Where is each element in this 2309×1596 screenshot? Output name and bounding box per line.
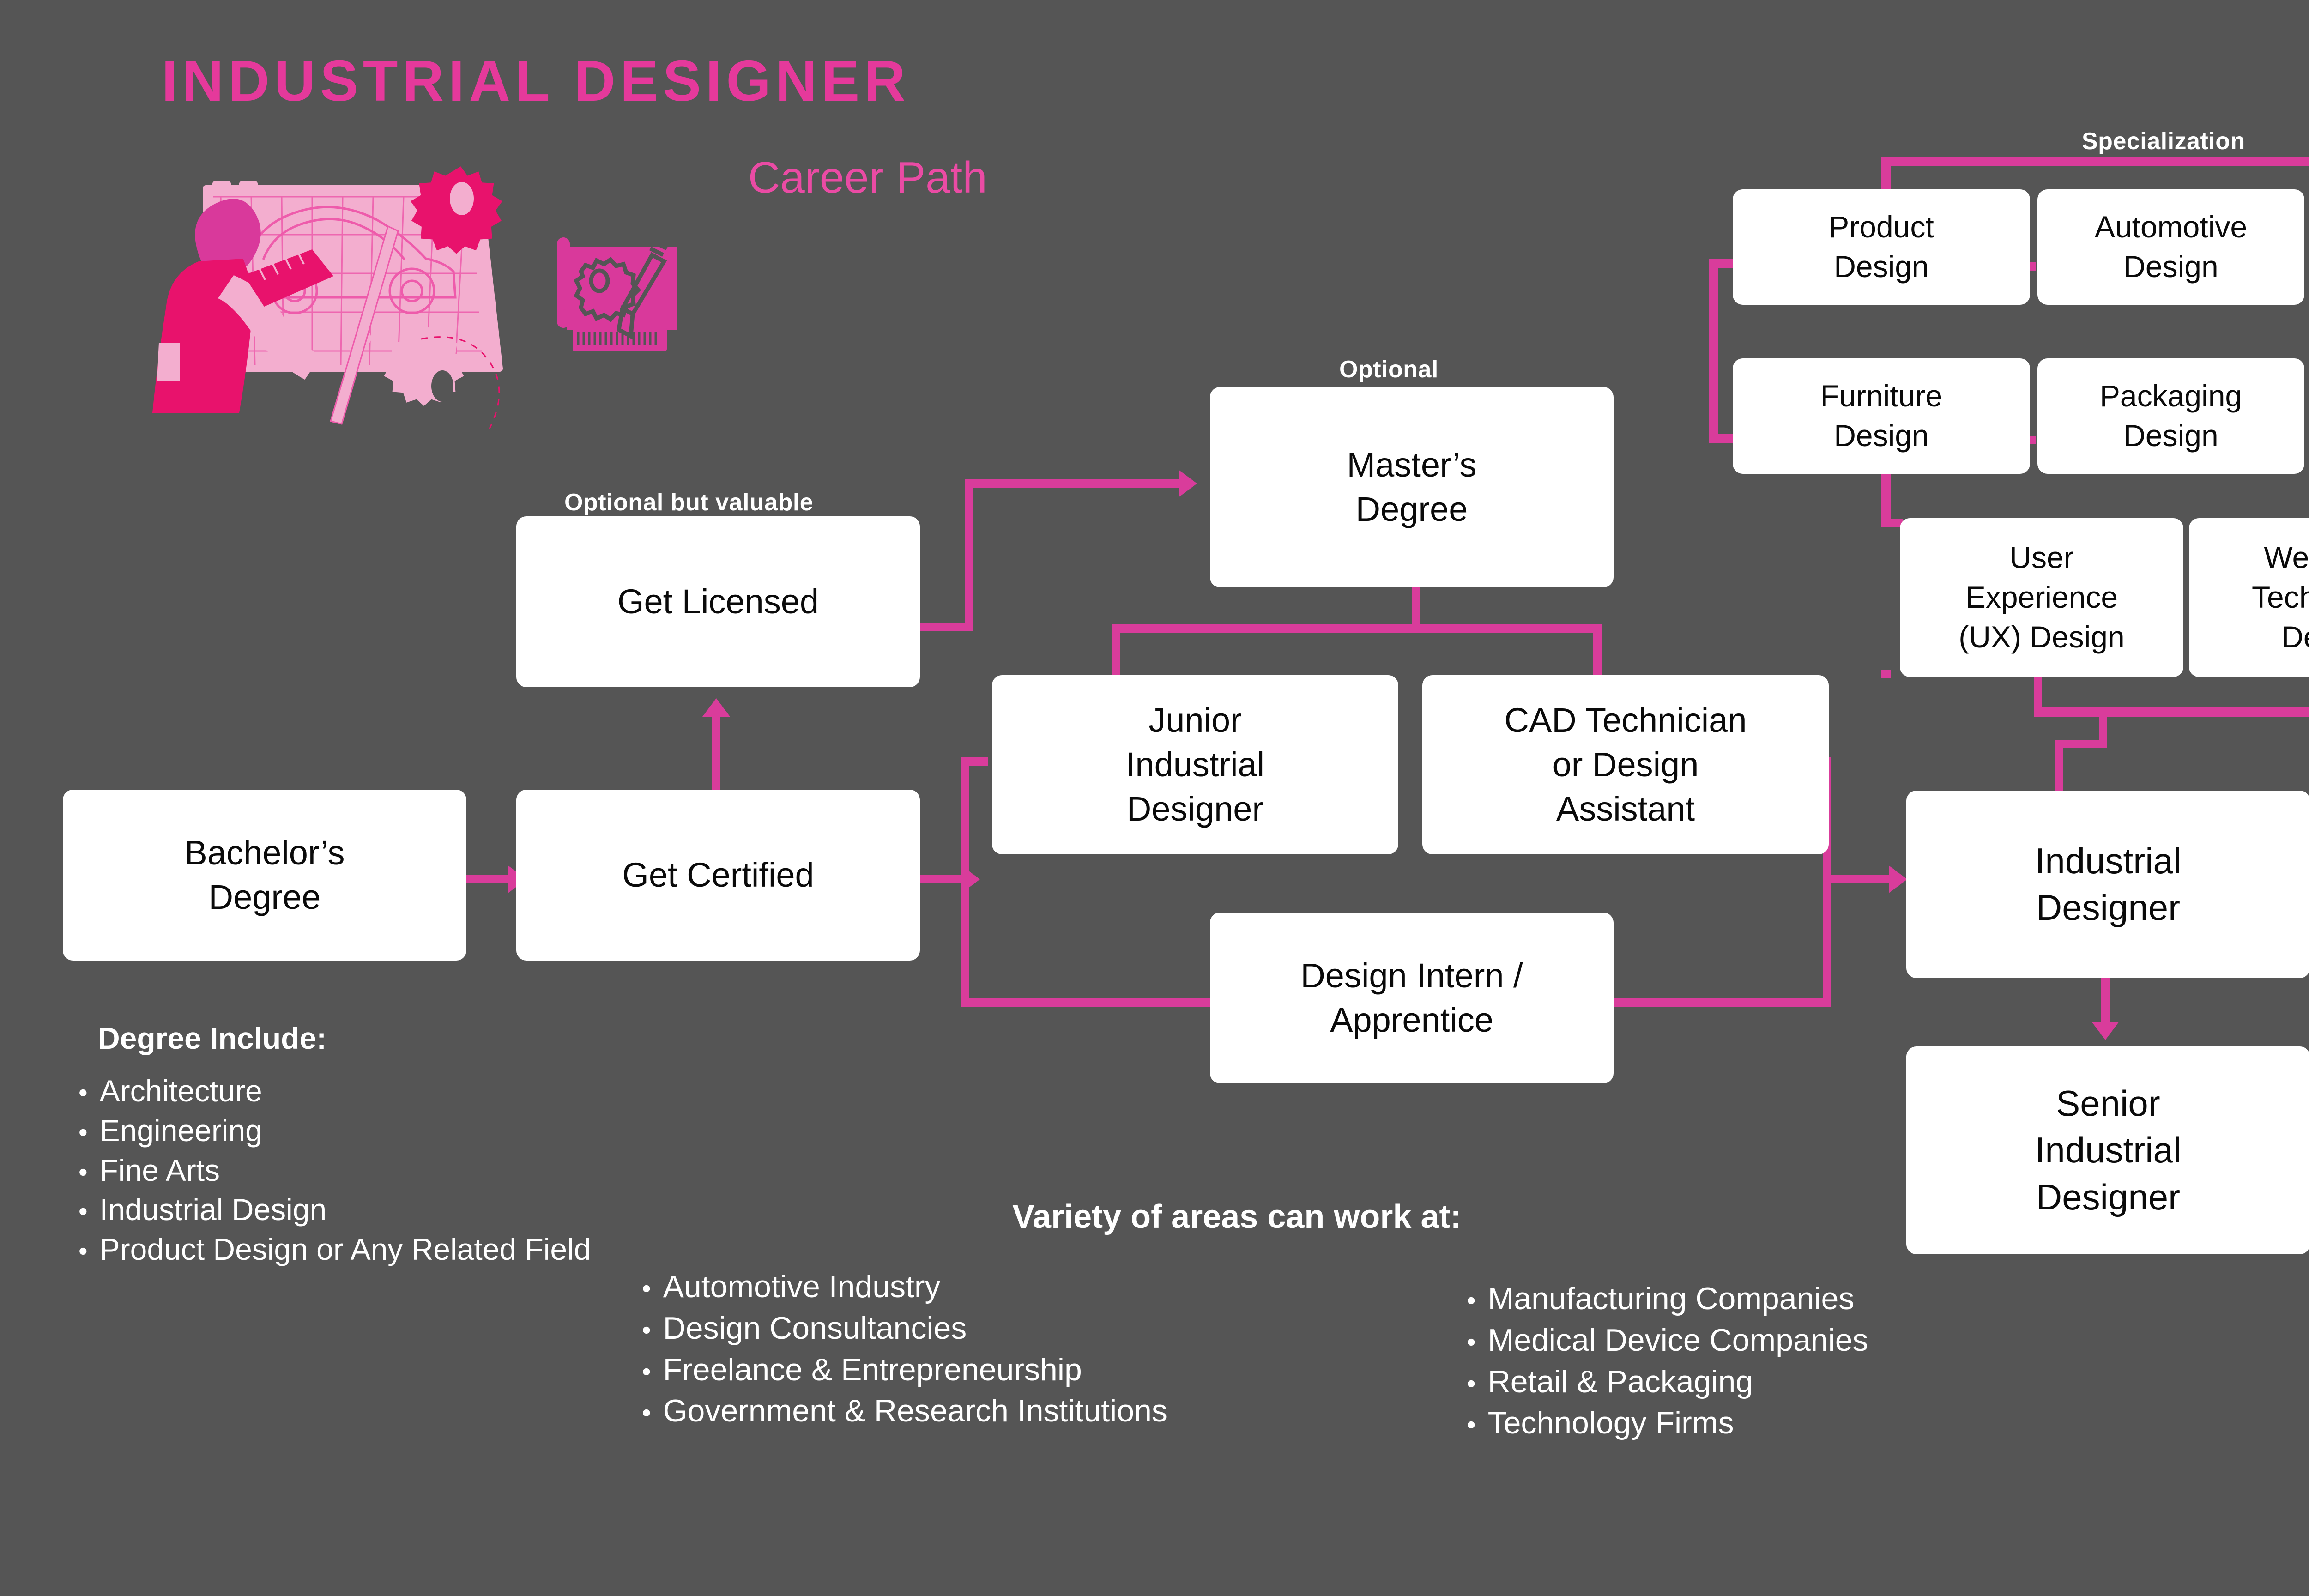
list-item: • Engineering (79, 1111, 651, 1151)
bullet-icon: • (79, 1198, 88, 1224)
list-item-label: Medical Device Companies (1488, 1320, 1868, 1361)
work-areas-list-right: • Manufacturing Companies • Medical Devi… (1467, 1278, 1868, 1444)
work-areas-heading: Variety of areas can work at: (1012, 1198, 1461, 1236)
bullet-icon: • (642, 1276, 651, 1301)
list-item-label: Technology Firms (1488, 1403, 1868, 1444)
connector-masters-to-cad (1593, 624, 1602, 676)
list-item-label: Design Consultancies (663, 1308, 1167, 1349)
node-cad-technician[interactable]: CAD Technicianor DesignAssistant (1422, 675, 1829, 854)
node-bachelors-degree[interactable]: Bachelor’sDegree (63, 790, 466, 961)
connector-to-ux-stub (1881, 519, 1903, 527)
connector-spec-to-product (1709, 259, 1736, 268)
list-item: • Government & Research Institutions (642, 1390, 1167, 1432)
bullet-icon: • (79, 1119, 88, 1145)
bullet-icon: • (1467, 1412, 1476, 1438)
connector-bachelors-to-certified (466, 875, 509, 883)
spec-node-automotive-design[interactable]: AutomotiveDesign (2037, 189, 2304, 305)
connector-designer-to-senior (2101, 978, 2110, 1022)
list-item: • Technology Firms (1467, 1403, 1868, 1444)
node-label: ProductDesign (1739, 207, 2024, 287)
connector-certified-to-licensed (712, 716, 720, 790)
node-industrial-designer[interactable]: IndustrialDesigner (1906, 791, 2309, 978)
node-label: WearableTechnologyDesign (2195, 538, 2309, 657)
list-item: • Architecture (79, 1071, 651, 1111)
list-item: • Medical Device Companies (1467, 1320, 1868, 1361)
bullet-icon: • (642, 1317, 651, 1343)
list-item: • Retail & Packaging (1467, 1361, 1868, 1403)
caption-specialization: Specialization (2082, 127, 2245, 155)
connector-spec-merge-bar (2034, 707, 2309, 717)
bullet-icon: • (1467, 1371, 1476, 1396)
connector-bus-to-intern (961, 998, 1210, 1007)
page-subtitle: Career Path (748, 152, 987, 203)
list-item-label: Retail & Packaging (1488, 1361, 1868, 1403)
node-label: Get Licensed (523, 580, 913, 624)
node-label: FurnitureDesign (1739, 376, 2024, 456)
bullet-icon: • (1467, 1288, 1476, 1313)
connector-spec-left-bracket (1709, 259, 1718, 443)
arrowhead-down (2091, 1022, 2119, 1040)
connector-spec-to-furniture (1709, 434, 1736, 443)
node-masters-degree[interactable]: Master’sDegree (1210, 387, 1614, 587)
node-label: Get Certified (523, 853, 913, 897)
list-item-label: Engineering (100, 1111, 651, 1151)
caption-optional: Optional (1339, 356, 1439, 383)
arrowhead-right (961, 865, 980, 893)
list-item-label: Product Design or Any Related Field (100, 1230, 651, 1270)
list-item: • Industrial Design (79, 1190, 651, 1230)
connector-wearable-hook (1881, 670, 1891, 678)
spec-node-product-design[interactable]: ProductDesign (1733, 189, 2030, 305)
node-label: Master’sDegree (1216, 443, 1607, 532)
connector-specialization-top-bar (1881, 157, 2309, 166)
bullet-icon: • (79, 1238, 88, 1264)
node-junior-industrial-designer[interactable]: JuniorIndustrialDesigner (992, 675, 1398, 854)
work-areas-list-left: • Automotive Industry • Design Consultan… (642, 1266, 1167, 1432)
node-label: PackagingDesign (2044, 376, 2298, 456)
spec-node-packaging-design[interactable]: PackagingDesign (2037, 358, 2304, 474)
node-label: Design Intern /Apprentice (1216, 954, 1607, 1042)
node-label: IndustrialDesigner (1913, 838, 2303, 931)
list-item-label: Automotive Industry (663, 1266, 1167, 1308)
connector-furniture-to-ux (1881, 471, 1891, 526)
list-item-label: Freelance & Entrepreneurship (663, 1349, 1167, 1391)
list-item: • Manufacturing Companies (1467, 1278, 1868, 1320)
arrowhead-right (1889, 865, 1907, 893)
connector-intern-to-bus (1606, 998, 1831, 1007)
list-item: • Freelance & Entrepreneurship (642, 1349, 1167, 1391)
spec-node-wearable-technology-design[interactable]: WearableTechnologyDesign (2189, 518, 2309, 677)
spec-node-furniture-design[interactable]: FurnitureDesign (1733, 358, 2030, 474)
node-get-licensed[interactable]: Get Licensed (516, 516, 920, 687)
connector-bus-to-industrial-designer (1823, 875, 1892, 883)
degree-include-list: • Architecture • Engineering • Fine Arts… (79, 1071, 651, 1270)
list-item: • Design Consultancies (642, 1308, 1167, 1349)
bullet-icon: • (642, 1400, 651, 1426)
industrial-designer-illustration (139, 152, 683, 439)
list-item-label: Architecture (100, 1071, 651, 1111)
node-design-intern[interactable]: Design Intern /Apprentice (1210, 913, 1614, 1083)
list-item: • Automotive Industry (642, 1266, 1167, 1308)
list-item-label: Industrial Design (100, 1190, 651, 1230)
node-label: CAD Technicianor DesignAssistant (1429, 698, 1822, 832)
bullet-icon: • (1467, 1329, 1476, 1355)
node-label: JuniorIndustrialDesigner (998, 698, 1392, 832)
career-path-infographic: INDUSTRIAL DESIGNER Career Path (0, 0, 2309, 1596)
node-label: Bachelor’sDegree (69, 831, 460, 919)
list-item-label: Fine Arts (100, 1151, 651, 1191)
list-item: • Fine Arts (79, 1151, 651, 1191)
caption-optional-but-valuable: Optional but valuable (564, 489, 813, 516)
node-senior-industrial-designer[interactable]: SeniorIndustrialDesigner (1906, 1046, 2309, 1254)
connector-masters-split-bar (1112, 624, 1602, 633)
connector-licensed-vertical (965, 479, 973, 631)
node-label: UserExperience(UX) Design (1906, 538, 2177, 657)
list-item: • Product Design or Any Related Field (79, 1230, 651, 1270)
page-title: INDUSTRIAL DESIGNER (162, 48, 910, 114)
node-label: AutomotiveDesign (2044, 207, 2298, 287)
degree-include-heading: Degree Include: (98, 1021, 326, 1056)
connector-to-masters (965, 479, 1182, 488)
spec-node-ux-design[interactable]: UserExperience(UX) Design (1900, 518, 2183, 677)
connector-merge-into-designer (2055, 740, 2063, 795)
node-get-certified[interactable]: Get Certified (516, 790, 920, 961)
arrowhead-right (1179, 470, 1197, 497)
list-item-label: Manufacturing Companies (1488, 1278, 1868, 1320)
bullet-icon: • (79, 1080, 88, 1106)
bullet-icon: • (79, 1159, 88, 1185)
connector-bus-to-junior (961, 757, 988, 766)
connector-masters-to-junior (1112, 624, 1120, 676)
node-label: SeniorIndustrialDesigner (1913, 1080, 2303, 1221)
bullet-icon: • (642, 1359, 651, 1384)
arrowhead-up (702, 698, 730, 717)
list-item-label: Government & Research Institutions (663, 1390, 1167, 1432)
